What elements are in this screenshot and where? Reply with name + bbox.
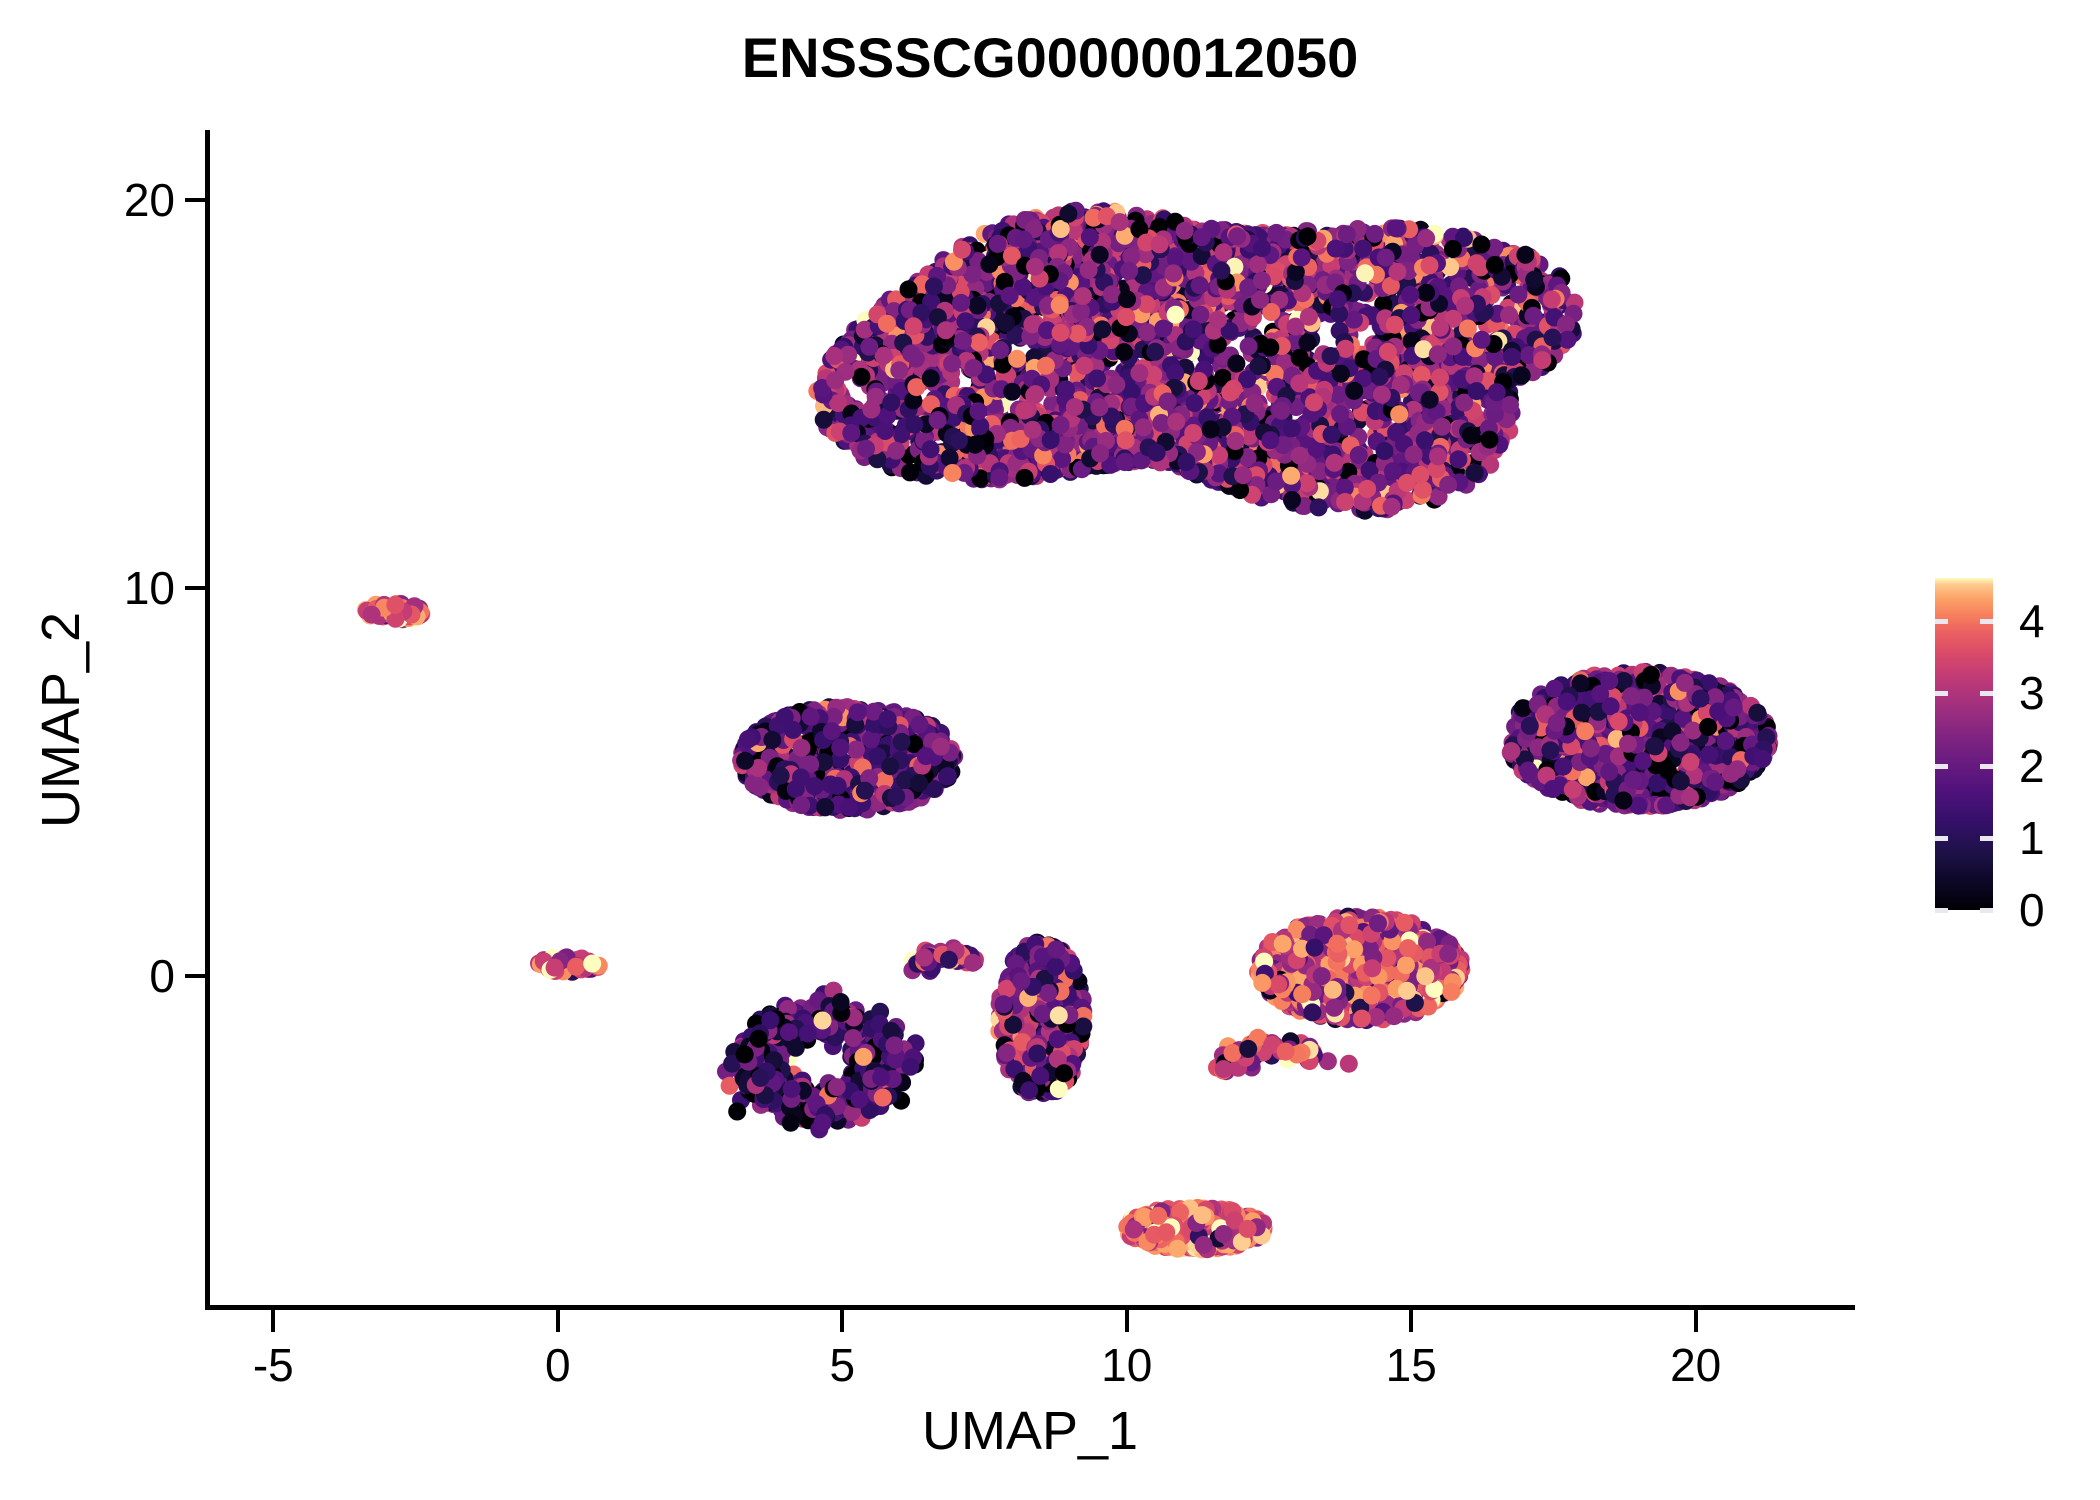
scatter-point-layer [205,130,1855,1310]
x-tick-mark [840,1310,844,1332]
colorbar-tick-mark [1935,836,1948,841]
plot-panel: -50510152001020 [205,130,1855,1310]
y-axis-title: UMAP_2 [30,130,90,1310]
x-tick-mark [271,1310,275,1332]
colorbar-tick-mark [1980,836,1993,841]
x-tick-label: -5 [253,1338,294,1392]
colorbar-tick-label: 0 [2019,883,2045,937]
umap-feature-plot: ENSSSCG00000012050 -50510152001020 UMAP_… [0,0,2100,1500]
colorbar-legend: 01234 [1935,578,1993,910]
colorbar-tick-mark [1935,764,1948,769]
colorbar-tick-label: 2 [2019,739,2045,793]
x-tick-label: 10 [1101,1338,1152,1392]
colorbar-tick-mark [1980,764,1993,769]
colorbar-tick-mark [1980,908,1993,913]
colorbar-gradient [1935,578,1993,910]
colorbar-tick-mark [1935,619,1948,624]
colorbar-tick-label: 4 [2019,594,2045,648]
y-tick-label: 0 [149,949,175,1003]
x-tick-mark [1125,1310,1129,1332]
y-tick-mark [185,198,205,202]
x-tick-label: 0 [545,1338,571,1392]
colorbar-tick-mark [1935,908,1948,913]
colorbar-tick-mark [1980,619,1993,624]
y-tick-label: 20 [124,173,175,227]
x-tick-mark [1694,1310,1698,1332]
colorbar-tick-mark [1935,691,1948,696]
scatter-points [205,130,1855,1310]
colorbar-tick-mark [1980,691,1993,696]
x-tick-mark [556,1310,560,1332]
y-tick-label: 10 [124,561,175,615]
x-tick-mark [1409,1310,1413,1332]
x-tick-label: 15 [1386,1338,1437,1392]
colorbar-tick-label: 1 [2019,811,2045,865]
x-tick-label: 5 [829,1338,855,1392]
x-tick-label: 20 [1670,1338,1721,1392]
page-title: ENSSSCG00000012050 [0,30,2100,86]
x-axis-title: UMAP_1 [205,1400,1855,1462]
colorbar-tick-label: 3 [2019,666,2045,720]
y-tick-mark [185,586,205,590]
y-tick-mark [185,974,205,978]
